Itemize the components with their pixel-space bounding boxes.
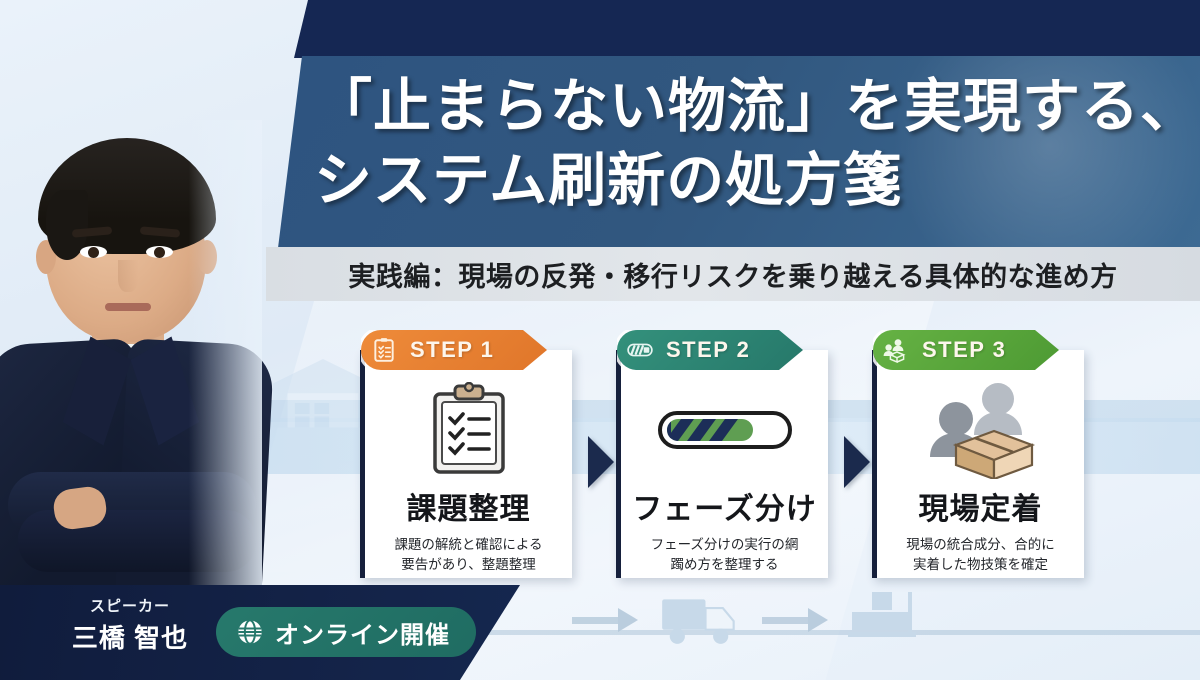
online-event-label: オンライン開催 <box>275 615 450 650</box>
online-event-badge[interactable]: オンライン開催 <box>216 607 476 657</box>
title-panel: 「止まらない物流」を実現する、 システム刷新の処方箋 <box>278 56 1200 248</box>
step-desc-3: 現場の統合成分、合的に 実着した物技策を確定 <box>877 535 1084 575</box>
step-card-3[interactable]: STEP 3 現場定着 現場の統合成分、合的に 実着した物技策を確定 <box>872 350 1084 578</box>
step-badge-3: STEP 3 <box>873 330 1059 370</box>
people-box-art <box>920 381 1042 479</box>
connector-arrow-1 <box>588 436 614 488</box>
footer-bar: スピーカー 三橋 智也 オンライン開催 SEAOS <box>0 585 1200 680</box>
step-art-2 <box>621 378 828 482</box>
title-line-1: 「止まらない物流」を実現する、 <box>314 78 1200 136</box>
step-title-1: 課題整理 <box>365 484 572 528</box>
step-art-1 <box>365 378 572 482</box>
step-desc-2-line2: 躅め方を整理する <box>631 555 818 575</box>
step-desc-1: 課題の解統と確認による 要告があり、整題整理 <box>365 535 572 575</box>
progress-bar-art <box>657 408 793 452</box>
speaker-block: スピーカー 三橋 智也 <box>40 595 220 655</box>
step-title-2: フェーズ分け <box>621 484 828 528</box>
speaker-role-label: スピーカー <box>40 595 220 616</box>
step-card-1[interactable]: STEP 1 課題整理 課題の解統と確認による <box>360 350 572 578</box>
step-art-3 <box>877 378 1084 482</box>
step-desc-3-line1: 現場の統合成分、合的に <box>887 535 1074 555</box>
step-badge-label-2: STEP 2 <box>660 337 750 363</box>
people-box-icon <box>883 337 909 363</box>
step-desc-2: フェーズ分けの実行の網 躅め方を整理する <box>621 535 828 575</box>
clipboard-checklist-icon <box>371 337 397 363</box>
step-desc-1-line2: 要告があり、整題整理 <box>375 555 562 575</box>
steps-row: STEP 1 課題整理 課題の解統と確認による <box>352 328 1098 578</box>
headline-block: 「止まらない物流」を実現する、 システム刷新の処方箋 実践編：現場の反発・移行リ… <box>258 0 1200 310</box>
step-card-2[interactable]: STEP 2 フェーズ分け フェーズ分けの実行の網 <box>616 350 828 578</box>
subtitle-panel: 実践編：現場の反発・移行リスクを乗り越える具体的な進め方 <box>266 247 1200 301</box>
webinar-banner: 「止まらない物流」を実現する、 システム刷新の処方箋 実践編：現場の反発・移行リ… <box>0 0 1200 680</box>
clipboard-checklist-art <box>426 382 512 478</box>
subtitle-text: 実践編：現場の反発・移行リスクを乗り越える具体的な進め方 <box>348 255 1117 294</box>
step-desc-1-line1: 課題の解統と確認による <box>375 535 562 555</box>
title-line-2: システム刷新の処方箋 <box>314 152 1200 210</box>
step-badge-2: STEP 2 <box>617 330 803 370</box>
step-title-3: 現場定着 <box>877 484 1084 528</box>
globe-icon <box>236 618 264 646</box>
step-desc-3-line2: 実着した物技策を確定 <box>887 555 1074 575</box>
step-badge-label-1: STEP 1 <box>404 337 494 363</box>
navy-top-strip <box>294 0 1200 58</box>
speaker-photo <box>0 120 262 590</box>
step-badge-1: STEP 1 <box>361 330 547 370</box>
step-desc-2-line1: フェーズ分けの実行の網 <box>631 535 818 555</box>
progress-bar-icon <box>627 337 653 363</box>
step-badge-label-3: STEP 3 <box>916 337 1006 363</box>
speaker-name: 三橋 智也 <box>40 618 220 655</box>
connector-arrow-2 <box>844 436 870 488</box>
